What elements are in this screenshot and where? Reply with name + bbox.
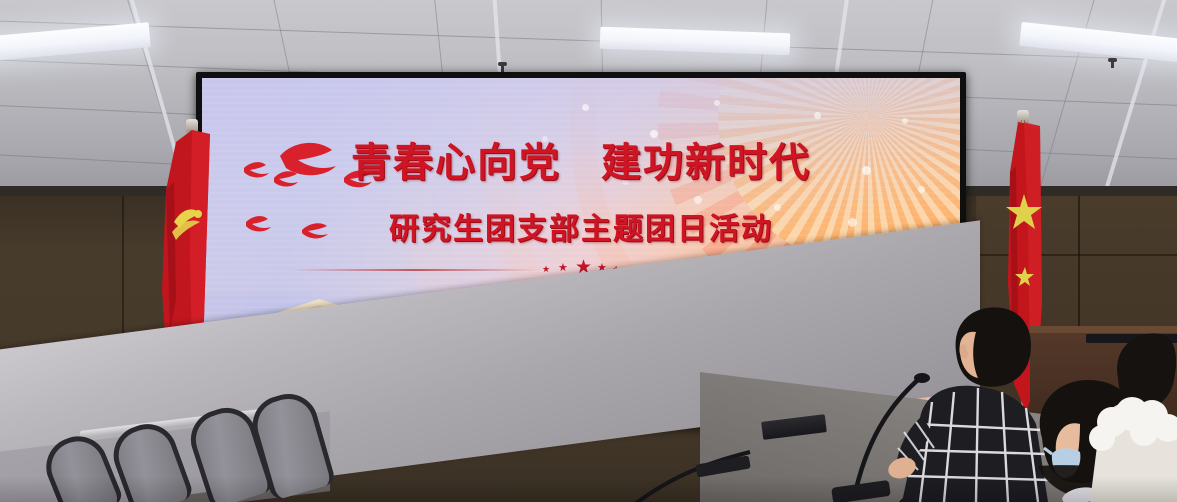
ceiling-panel-light [0, 22, 151, 63]
conference-room-photo: 青春心向党建功新时代 研究生团支部主题团日活动 ★ ★ ★ ★ ★ 人文与新媒体… [0, 0, 1177, 502]
slide-main-title: 青春心向党建功新时代 [202, 130, 960, 188]
sprinkler-icon [1108, 58, 1117, 62]
sprinkler-icon [498, 62, 507, 66]
divider-star: ★ [542, 265, 550, 274]
slide-title-phrase-2: 建功新时代 [601, 140, 811, 186]
ceiling-panel-light [600, 27, 791, 56]
divider-star: ★ [558, 263, 568, 274]
foreground-table-shadow [0, 476, 1177, 502]
slide-title-phrase-1: 青春心向党 [351, 140, 561, 186]
